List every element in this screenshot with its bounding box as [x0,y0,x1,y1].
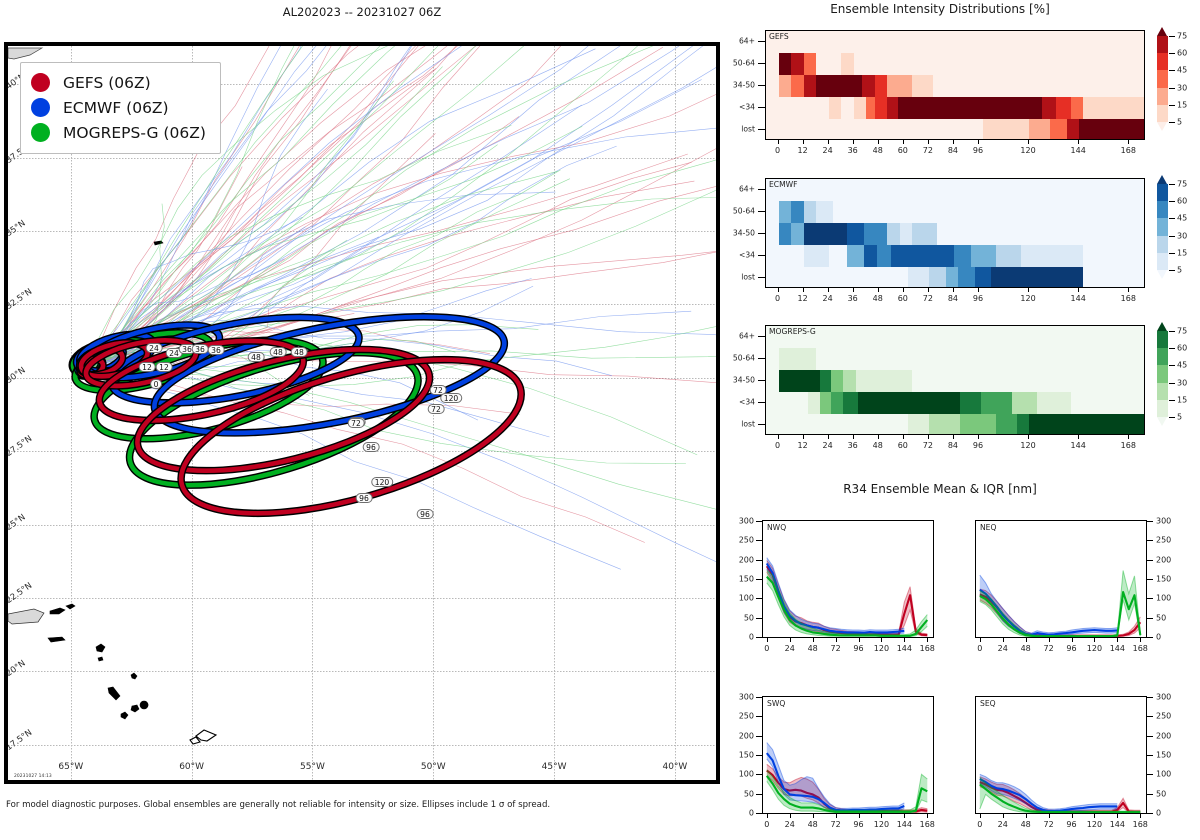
ellipse-hour-label: 72 [348,418,365,428]
intensity-x-tick-label: 12 [797,441,807,450]
intensity-x-tick-label: 96 [973,294,983,303]
colorbar-tick [1169,365,1175,366]
intensity-x-tick-label: 48 [873,294,883,303]
r34-y-tick-label: 50 [728,789,754,798]
r34-y-tick [1147,560,1153,561]
heatmap-cell [804,53,817,75]
r34-x-tick-label: 120 [874,644,889,653]
intensity-y-tick [758,63,765,64]
colorbar-tick-label: 15 [1177,395,1187,404]
heatmap-cell [1012,392,1037,414]
map-legend[interactable]: GEFS (06Z)ECMWF (06Z)MOGREPS-G (06Z) [20,62,221,154]
r34-x-tick [1026,814,1027,818]
intensity-y-tick [758,129,765,130]
r34-y-tick [1147,540,1153,541]
intensity-y-tick-label: <34 [721,398,755,407]
intensity-x-tick [978,140,979,144]
intensity-heatmap-mogreps-g[interactable]: MOGREPS-G [765,325,1145,435]
intensity-x-tick [928,435,929,439]
intensity-x-tick [778,435,779,439]
r34-panel-neq[interactable]: NEQ [975,520,1147,638]
r34-y-tick [756,618,762,619]
r34-x-tick [836,638,837,642]
r34-x-tick-label: 24 [785,820,795,829]
r34-y-tick [1147,598,1153,599]
intensity-x-tick [1078,435,1079,439]
heatmap-cell [960,392,981,414]
intensity-x-tick [928,140,929,144]
r34-x-tick-label: 72 [830,644,840,653]
map-lon-tick-label: 60°W [179,762,204,772]
r34-x-tick [927,638,928,642]
map-lon-tick-label: 40°W [662,762,687,772]
intensity-x-tick-label: 120 [1020,294,1035,303]
heatmap-cell [1042,97,1057,119]
ellipse-hour-label: 96 [356,493,373,503]
heatmap-cell [862,75,875,97]
r34-x-tick-label: 0 [764,820,769,829]
legend-item-label: MOGREPS-G (06Z) [63,124,206,142]
heatmap-cell [847,245,864,267]
r34-y-tick [756,794,762,795]
r34-x-tick [859,814,860,818]
intensity-y-tick [758,380,765,381]
colorbar-tick-label: 30 [1177,231,1187,240]
legend-color-swatch-icon [31,123,50,142]
r34-panel-nwq[interactable]: NWQ [762,520,934,638]
colorbar-tick [1169,88,1175,89]
legend-item-gefs[interactable]: GEFS (06Z) [31,70,206,95]
intensity-x-tick [953,435,954,439]
heatmap-cell [891,245,954,267]
r34-y-tick-label: 150 [1156,751,1171,760]
intensity-x-tick-label: 48 [873,146,883,155]
legend-item-label: GEFS (06Z) [63,74,151,92]
heatmap-cell [866,97,874,119]
r34-y-tick [756,813,762,814]
r34-y-tick-label: 200 [1156,731,1171,740]
heatmap-cell [779,201,792,223]
r34-x-tick-label: 24 [785,644,795,653]
r34-panel-swq[interactable]: SWQ [762,696,934,814]
colorbar-segment [1157,88,1168,106]
r34-y-tick [756,598,762,599]
legend-color-swatch-icon [31,98,50,117]
colorbar-tick [1169,122,1175,123]
intensity-x-tick [1028,140,1029,144]
colorbar-tick [1169,400,1175,401]
intensity-x-tick [853,288,854,292]
r34-y-tick-label: 100 [1156,594,1171,603]
colorbar-segment [1157,218,1168,236]
r34-x-tick-label: 144 [897,820,912,829]
r34-x-tick-label: 120 [1087,820,1102,829]
r34-x-tick [813,814,814,818]
r34-x-tick-label: 72 [1043,820,1053,829]
intensity-x-tick [1028,288,1029,292]
intensity-x-tick-label: 96 [973,441,983,450]
heatmap-cell [908,414,929,435]
r34-y-tick-label: 200 [1156,555,1171,564]
r34-x-tick-label: 96 [853,644,863,653]
colorbar-segment [1157,253,1168,271]
colorbar-tick-label: 75 [1177,32,1187,41]
intensity-x-tick-label: 72 [923,441,933,450]
r34-x-tick-label: 168 [1133,820,1148,829]
intensity-heatmap-gefs[interactable]: GEFS [765,30,1145,140]
intensity-y-tick [758,107,765,108]
heatmap-cell [779,53,792,75]
intensity-y-tick-label: 64+ [721,332,755,341]
r34-y-tick-label: 300 [1156,693,1171,702]
intensity-y-tick-label: 34-50 [721,229,755,238]
heatmap-cell [791,75,804,97]
r34-y-tick-label: 300 [728,693,754,702]
heatmap-cell [829,97,842,119]
heatmap-cell [983,119,1029,140]
intensity-x-tick [853,435,854,439]
r34-y-tick [1147,794,1153,795]
intensity-y-tick [758,85,765,86]
colorbar-segment [1157,383,1168,401]
r34-x-tick-label: 96 [1066,644,1076,653]
r34-y-tick-label: 50 [1156,613,1166,622]
heatmap-cell [1037,392,1070,414]
intensity-x-tick [828,435,829,439]
ellipse-hour-label: 36 [208,345,225,355]
r34-title: R34 Ensemble Mean & IQR [nm] [740,482,1140,496]
intensity-y-tick-label: 34-50 [721,81,755,90]
colorbar-tick [1169,348,1175,349]
r34-x-tick-label: 144 [1110,820,1125,829]
heatmap-cell [981,392,1012,414]
legend-item-ecmwf[interactable]: ECMWF (06Z) [31,95,206,120]
intensity-x-tick [878,140,879,144]
r34-x-tick-label: 72 [1043,644,1053,653]
r34-x-tick [1140,814,1141,818]
intensity-x-tick-label: 84 [948,441,958,450]
heatmap-cell [1079,119,1145,140]
intensity-y-tick-label: <34 [721,251,755,260]
r34-x-tick-label: 72 [830,820,840,829]
r34-x-tick [1026,638,1027,642]
r34-y-tick [1147,637,1153,638]
r34-y-tick [756,716,762,717]
intensity-x-tick [803,140,804,144]
r34-x-tick [859,638,860,642]
heatmap-cell [841,53,854,75]
r34-y-tick-label: 100 [1156,770,1171,779]
r34-x-tick-label: 48 [808,644,818,653]
colorbar-extend-min-icon [1157,417,1167,426]
colorbar-tick-label: 60 [1177,197,1187,206]
intensity-y-tick [758,41,765,42]
spread-ellipses [68,294,537,545]
map-timestamp: 20231027 14:13 [14,774,52,779]
ellipse-hour-label: 72 [428,404,445,414]
map-lon-tick-label: 55°W [300,762,325,772]
ellipse-hour-label: 48 [248,352,265,362]
r34-y-tick [756,755,762,756]
r34-y-tick [1147,813,1153,814]
map-lon-tick-label: 50°W [421,762,446,772]
heatmap-cell [929,267,946,288]
colorbar-tick [1169,184,1175,185]
colorbar-extend-min-icon [1157,122,1167,131]
r34-x-tick-label: 120 [874,820,889,829]
ellipse-hour-label: 12 [139,362,156,372]
r34-y-tick [1147,716,1153,717]
intensity-y-tick [758,336,765,337]
heatmap-cell [975,267,992,288]
heatmap-cell [804,223,848,245]
colorbar-segment [1157,348,1168,366]
footer-disclaimer: For model diagnostic purposes. Global en… [6,800,550,810]
intensity-x-tick [1078,140,1079,144]
colorbar-tick [1169,417,1175,418]
r34-y-tick [756,521,762,522]
heatmap-cell [804,201,817,223]
forecast-track-map[interactable]: 2424121203636364848487272727296969612012… [4,42,720,784]
heatmap-cell [887,75,912,97]
heatmap-cell [820,392,830,414]
intensity-x-tick-label: 120 [1020,146,1035,155]
r34-y-tick [1147,521,1153,522]
r34-y-tick [1147,697,1153,698]
intensity-x-tick-label: 60 [898,441,908,450]
heatmap-cell [912,75,933,97]
heatmap-cell [856,370,912,392]
r34-x-tick [1003,814,1004,818]
r34-x-tick [904,638,905,642]
intensity-x-tick [828,288,829,292]
r34-x-tick [904,814,905,818]
intensity-y-tick-label: 50-64 [721,354,755,363]
intensity-x-tick-label: 12 [797,146,807,155]
intensity-y-tick [758,189,765,190]
heatmap-cell [791,223,804,245]
r34-y-tick-label: 200 [728,555,754,564]
colorbar-tick [1169,331,1175,332]
heatmap-model-label: GEFS [769,32,789,41]
colorbar-tick-label: 15 [1177,248,1187,257]
intensity-x-tick-label: 0 [775,441,780,450]
r34-y-tick [756,579,762,580]
heatmap-cell [887,223,900,245]
intensity-x-tick-label: 72 [923,146,933,155]
intensity-x-tick-label: 168 [1121,294,1136,303]
colorbar-extend-min-icon [1157,270,1167,279]
r34-x-tick [1049,814,1050,818]
intensity-x-tick-label: 48 [873,441,883,450]
colorbar-segment [1157,365,1168,383]
r34-y-tick-label: 150 [1156,575,1171,584]
intensity-x-tick-label: 36 [848,294,858,303]
heatmap-cell [875,75,888,97]
ellipse-hour-label: 120 [440,393,462,403]
intensity-x-tick [778,288,779,292]
heatmap-cell [1050,119,1067,140]
heatmap-cell [900,223,913,245]
intensity-x-tick-label: 84 [948,294,958,303]
intensity-y-tick [758,402,765,403]
heatmap-cell [1083,97,1145,119]
r34-y-tick-label: 300 [728,517,754,526]
ellipse-hour-label: 0 [150,379,162,389]
r34-y-tick-label: 250 [728,712,754,721]
heatmap-cell [1017,414,1030,435]
colorbar-tick [1169,36,1175,37]
intensity-x-tick-label: 36 [848,146,858,155]
heatmap-cell [875,97,888,119]
r34-x-tick-label: 96 [1066,820,1076,829]
intensity-y-tick-label: lost [721,273,755,282]
ellipse-hour-label: 36 [192,344,209,354]
r34-x-tick-label: 0 [764,644,769,653]
r34-y-tick-label: 100 [728,770,754,779]
r34-x-tick-label: 24 [998,820,1008,829]
r34-x-tick-label: 48 [808,820,818,829]
intensity-x-tick [878,288,879,292]
colorbar-tick-label: 75 [1177,327,1187,336]
heatmap-cell [929,414,960,435]
heatmap-cell [946,267,959,288]
intensity-x-tick-label: 72 [923,294,933,303]
intensity-y-tick-label: <34 [721,103,755,112]
ellipse-hour-label: 24 [146,343,163,353]
colorbar-tick [1169,201,1175,202]
intensity-x-tick-label: 120 [1020,441,1035,450]
r34-x-tick [813,638,814,642]
heatmap-cell [996,245,1021,267]
ellipse-hour-label: 96 [417,509,434,519]
ellipse-hour-label: 48 [270,347,287,357]
r34-x-tick [1049,638,1050,642]
colorbar-segment [1157,184,1168,202]
r34-x-tick-label: 0 [977,820,982,829]
r34-quadrant-label: NEQ [980,523,996,532]
intensity-y-tick [758,277,765,278]
intensity-x-tick-label: 144 [1071,146,1086,155]
r34-x-tick [1072,814,1073,818]
heatmap-cell [847,223,864,245]
r34-quadrant-label: SEQ [980,699,996,708]
colorbar-segment [1157,201,1168,219]
colorbar-tick [1169,270,1175,271]
r34-x-tick [790,638,791,642]
r34-y-tick-label: 0 [728,633,754,642]
r34-y-tick-label: 50 [1156,789,1166,798]
heatmap-cell [887,97,897,119]
colorbar-tick-label: 75 [1177,180,1187,189]
intensity-x-tick [878,435,879,439]
r34-y-tick-label: 250 [1156,536,1171,545]
intensity-x-tick [1128,140,1129,144]
intensity-x-tick-label: 36 [848,441,858,450]
r34-y-tick [1147,755,1153,756]
heatmap-cell [816,75,862,97]
heatmap-cell [991,267,1083,288]
intensity-x-tick-label: 96 [973,146,983,155]
heatmap-cell [843,370,856,392]
r34-y-tick [1147,618,1153,619]
intensity-x-tick [953,140,954,144]
intensity-heatmap-ecmwf[interactable]: ECMWF [765,178,1145,288]
r34-y-tick-label: 200 [728,731,754,740]
intensity-x-tick-label: 60 [898,294,908,303]
intensity-x-tick [828,140,829,144]
intensity-y-tick-label: 50-64 [721,207,755,216]
r34-y-tick-label: 150 [728,575,754,584]
r34-y-tick [756,540,762,541]
colorbar-tick-label: 45 [1177,361,1187,370]
r34-x-tick [767,814,768,818]
r34-y-tick-label: 150 [728,751,754,760]
heatmap-cell [804,75,817,97]
intensity-y-tick [758,233,765,234]
heatmap-cell [831,392,844,414]
r34-x-tick [980,638,981,642]
heatmap-cell [808,392,821,414]
intensity-y-tick-label: lost [721,125,755,134]
r34-x-tick-label: 0 [977,644,982,653]
heatmap-cell [804,245,829,267]
heatmap-cell [1067,119,1080,140]
heatmap-cell [864,223,887,245]
heatmap-cell [908,267,929,288]
colorbar-tick-label: 5 [1177,413,1182,422]
colorbar-tick-label: 30 [1177,83,1187,92]
r34-y-tick-label: 0 [1156,809,1161,818]
colorbar-tick-label: 30 [1177,378,1187,387]
colorbar-segment [1157,105,1168,123]
intensity-x-tick-label: 12 [797,294,807,303]
heatmap-cell [791,53,804,75]
map-graphics [8,46,716,780]
intensity-x-tick [903,288,904,292]
r34-y-tick-label: 0 [728,809,754,818]
intensity-y-tick [758,255,765,256]
colorbar-segment [1157,53,1168,71]
r34-y-tick-label: 0 [1156,633,1161,642]
r34-panel-seq[interactable]: SEQ [975,696,1147,814]
colorbar-tick [1169,70,1175,71]
heatmap-cell [1056,97,1071,119]
colorbar-tick-label: 45 [1177,214,1187,223]
heatmap-cell [779,223,792,245]
map-lon-tick-label: 45°W [542,762,567,772]
r34-y-tick-label: 250 [728,536,754,545]
r34-y-tick-label: 250 [1156,712,1171,721]
heatmap-cell [843,392,858,414]
heatmap-cell [791,201,804,223]
heatmap-cell [858,392,960,414]
r34-quadrant-label: SWQ [767,699,785,708]
intensity-x-tick-label: 144 [1071,441,1086,450]
r34-y-tick [756,637,762,638]
r34-x-tick-label: 144 [897,644,912,653]
intensity-y-tick-label: 34-50 [721,376,755,385]
heatmap-cell [854,97,867,119]
heatmap-cell [1071,97,1084,119]
heatmap-cell [912,223,937,245]
heatmap-cell [779,348,817,370]
legend-item-mogreps-g[interactable]: MOGREPS-G (06Z) [31,120,206,145]
intensity-x-tick [978,435,979,439]
intensity-colorbar-mogreps-g [1157,331,1168,417]
r34-x-tick-label: 168 [1133,644,1148,653]
intensity-y-tick-label: 64+ [721,185,755,194]
